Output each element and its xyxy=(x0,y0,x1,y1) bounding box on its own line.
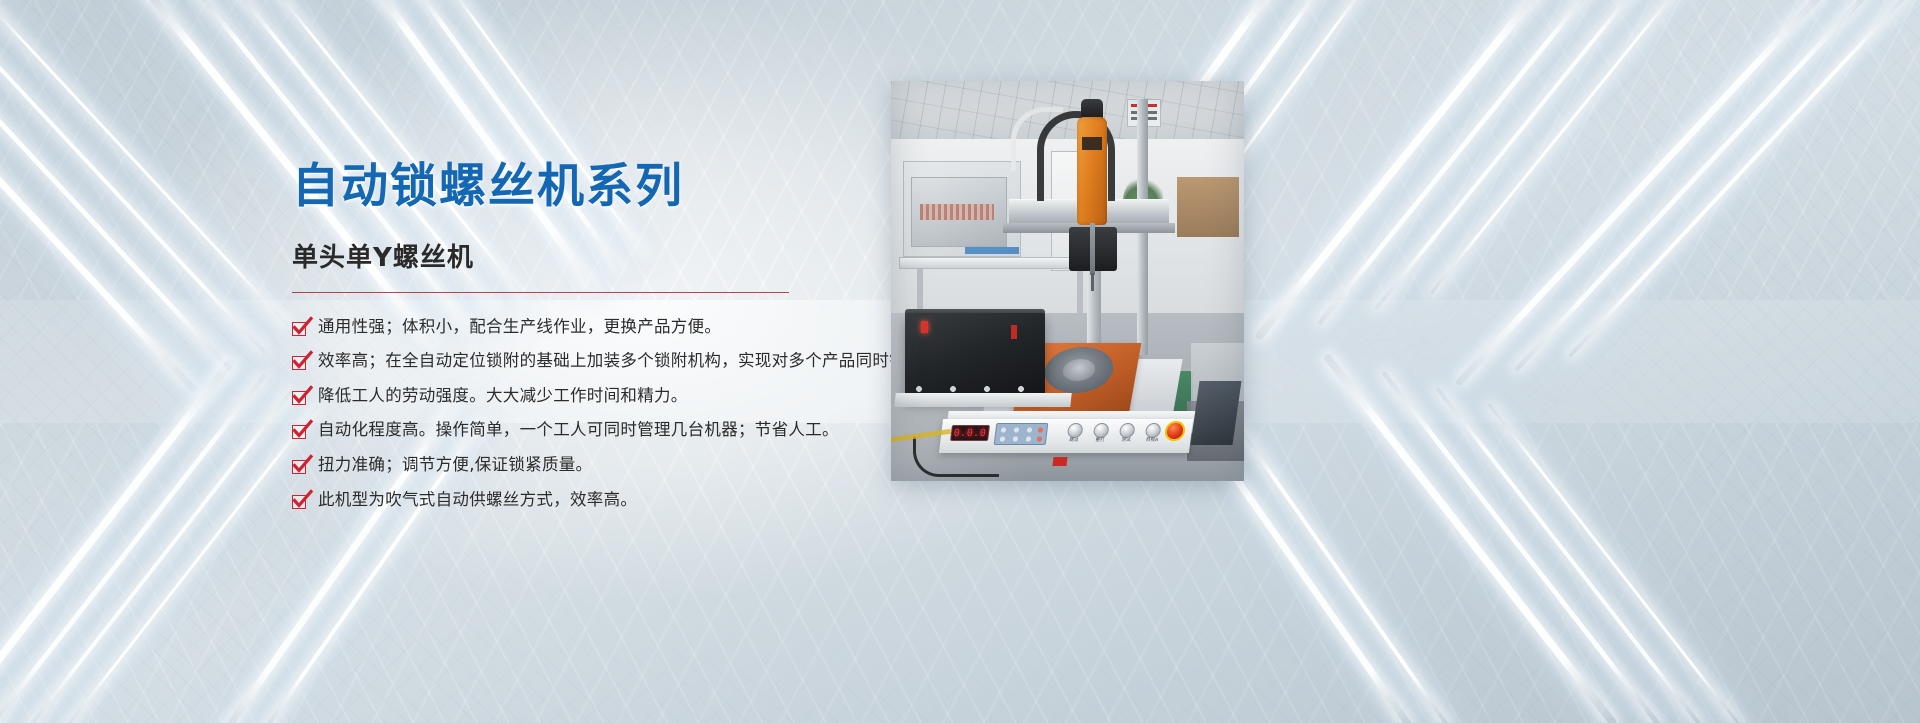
light-streak xyxy=(1381,370,1662,723)
power-switch[interactable] xyxy=(1052,457,1067,466)
banner-content: 自动锁螺丝机系列 单头单Y螺丝机 通用性强；体积小，配合生产线作业，更换产品方便… xyxy=(292,160,892,524)
control-button-label: 测试 xyxy=(1116,439,1136,444)
feature-text: 效率高；在全自动定位锁附的基础上加装多个锁附机构，实现对多个产品同时锁附。 xyxy=(318,351,940,372)
hmi-screen[interactable] xyxy=(1191,381,1242,445)
check-icon xyxy=(292,356,306,370)
workbench-leg xyxy=(1077,269,1083,319)
check-icon xyxy=(292,460,306,474)
feeder-bolts xyxy=(909,385,1041,393)
list-item: 降低工人的劳动强度。大大减少工作时间和精力。 xyxy=(292,386,892,407)
light-streak xyxy=(26,389,294,723)
light-streak xyxy=(1488,403,1743,723)
page-subtitle: 单头单Y螺丝机 xyxy=(292,237,892,274)
screwdriver-bit-tip xyxy=(1091,273,1094,291)
feeder-base-plate xyxy=(894,393,1071,407)
background-machine xyxy=(911,177,1007,247)
light-streak xyxy=(1435,387,1703,723)
control-button-row: 跳过 重打 测试 目视A xyxy=(1065,423,1164,449)
feeder-indicator-light xyxy=(921,321,928,333)
check-icon xyxy=(292,322,306,336)
control-button-label: 跳过 xyxy=(1064,439,1084,444)
background-blue-strip xyxy=(965,247,1019,254)
light-streak xyxy=(1568,0,1912,358)
page-title: 自动锁螺丝机系列 xyxy=(292,160,892,215)
control-button-skip[interactable] xyxy=(1067,423,1084,438)
product-banner: 自动锁螺丝机系列 单头单Y螺丝机 通用性强；体积小，配合生产线作业，更换产品方便… xyxy=(0,0,1920,723)
list-item: 自动化程度高。操作简单，一个工人可同时管理几台机器；节省人工。 xyxy=(292,420,892,441)
screwdriver-bit xyxy=(1090,223,1095,275)
feature-text: 通用性强；体积小，配合生产线作业，更换产品方便。 xyxy=(318,317,721,338)
light-streak xyxy=(1254,0,1556,341)
feature-text: 此机型为吹气式自动供螺丝方式，效率高。 xyxy=(318,490,637,511)
light-streak xyxy=(1374,0,1648,310)
product-photo: 0.0.0 跳过 重打 测试 目视A xyxy=(891,81,1244,481)
background-shelf xyxy=(1177,177,1239,237)
check-icon xyxy=(292,425,306,439)
control-button-label: 重打 xyxy=(1090,439,1110,444)
list-item: 效率高；在全自动定位锁附的基础上加装多个锁附机构，实现对多个产品同时锁附。 xyxy=(292,351,892,372)
feature-text: 扭力准确；调节方便,保证锁紧质量。 xyxy=(318,455,592,476)
list-item: 此机型为吹气式自动供螺丝方式，效率高。 xyxy=(292,490,892,511)
feature-list: 通用性强；体积小，配合生产线作业，更换产品方便。 效率高；在全自动定位锁附的基础… xyxy=(292,317,892,511)
light-streak xyxy=(1455,0,1828,387)
light-streak xyxy=(0,358,236,723)
list-item: 扭力准确；调节方便,保证锁紧质量。 xyxy=(292,455,892,476)
electric-screwdriver xyxy=(1077,117,1107,225)
light-streak xyxy=(1323,353,1619,723)
feature-text: 自动化程度高。操作简单，一个工人可同时管理几台机器；节省人工。 xyxy=(318,420,839,441)
light-streak xyxy=(1317,0,1604,326)
light-streak xyxy=(1514,0,1872,372)
light-streak xyxy=(64,405,319,723)
light-streak xyxy=(0,0,291,328)
control-keypad[interactable] xyxy=(994,423,1049,445)
control-button-test[interactable] xyxy=(1119,423,1136,438)
list-item: 通用性强；体积小，配合生产线作业，更换产品方便。 xyxy=(292,317,892,338)
control-button-visual[interactable] xyxy=(1145,423,1162,438)
check-icon xyxy=(292,391,306,405)
power-cable xyxy=(913,437,999,477)
product-photo-image: 0.0.0 跳过 重打 测试 目视A xyxy=(891,81,1244,481)
feature-text: 降低工人的劳动强度。大大减少工作时间和精力。 xyxy=(318,386,688,407)
control-button-redo[interactable] xyxy=(1093,423,1110,438)
light-streak xyxy=(0,0,198,394)
title-divider xyxy=(292,292,789,293)
light-streak xyxy=(0,0,235,374)
light-streak xyxy=(1430,0,1690,295)
light-streak xyxy=(0,373,267,723)
feeder-indicator-light xyxy=(1011,325,1017,339)
control-button-label: 目视A xyxy=(1142,439,1162,444)
light-streak xyxy=(1236,425,1451,723)
check-icon xyxy=(292,495,306,509)
light-streak xyxy=(0,0,267,354)
driver-label xyxy=(1082,137,1102,150)
